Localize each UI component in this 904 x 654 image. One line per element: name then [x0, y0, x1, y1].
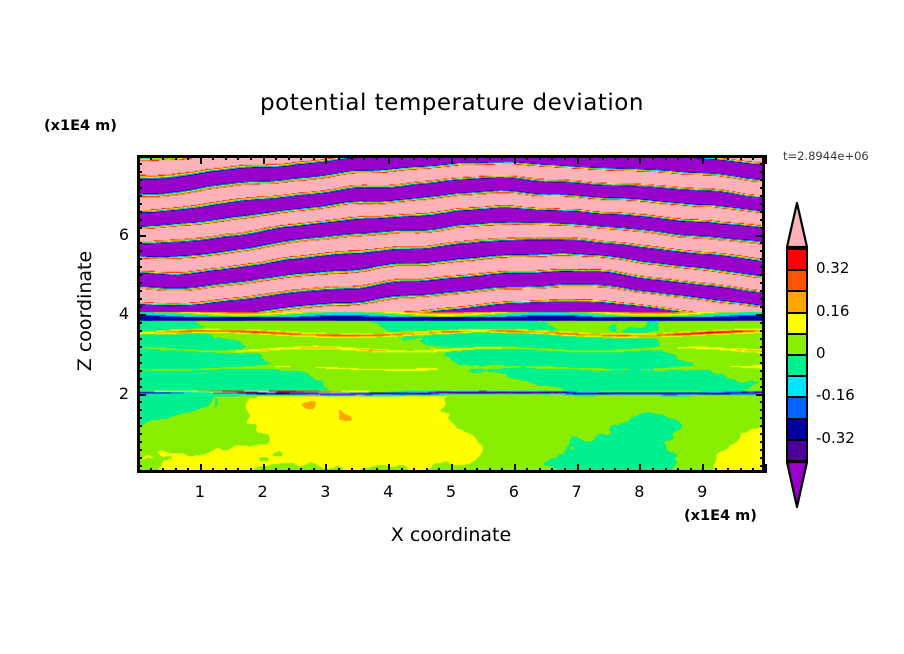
colorbar-segment	[786, 439, 808, 462]
time-annotation: t=2.8944e+06	[783, 149, 869, 163]
x-tick-label: 9	[682, 482, 722, 501]
contour-plot-area[interactable]	[137, 155, 765, 473]
colorbar-over-arrow	[786, 202, 808, 248]
z-axis-unit-label: (x1E4 m)	[44, 118, 117, 134]
x-tick-label: 4	[368, 482, 408, 501]
y-tick-label: 4	[99, 304, 129, 323]
colorbar-tick-label: 0.16	[816, 302, 849, 320]
colorbar-segment	[786, 312, 808, 335]
colorbar-segment	[786, 290, 808, 313]
colorbar-under-arrow	[786, 460, 808, 508]
colorbar-segment	[786, 248, 808, 271]
x-tick-label: 5	[431, 482, 471, 501]
x-tick-label: 2	[243, 482, 283, 501]
x-axis-title: X coordinate	[137, 524, 765, 546]
x-tick-label: 6	[494, 482, 534, 501]
colorbar[interactable]	[786, 248, 808, 460]
x-tick-label: 8	[619, 482, 659, 501]
colorbar-segment	[786, 354, 808, 377]
tick-mark	[765, 464, 767, 473]
x-tick-label: 7	[557, 482, 597, 501]
x-tick-label: 3	[305, 482, 345, 501]
y-tick-label: 6	[99, 225, 129, 244]
colorbar-segment	[786, 396, 808, 419]
colorbar-segment	[786, 418, 808, 441]
page-title: potential temperature deviation	[0, 90, 904, 116]
colorbar-segment	[786, 269, 808, 292]
colorbar-tick-label: 0.32	[816, 259, 849, 277]
x-tick-label: 1	[180, 482, 220, 501]
colorbar-tick-label: -0.32	[816, 429, 855, 447]
y-axis-title: Z coordinate	[74, 211, 96, 411]
colorbar-tick-label: 0	[816, 344, 826, 362]
tick-mark	[765, 155, 767, 164]
colorbar-tick-label: -0.16	[816, 386, 855, 404]
y-tick-label: 2	[99, 384, 129, 403]
colorbar-segment	[786, 375, 808, 398]
contour-field	[140, 158, 762, 470]
colorbar-segment	[786, 333, 808, 356]
x-axis-unit-label: (x1E4 m)	[684, 508, 757, 524]
